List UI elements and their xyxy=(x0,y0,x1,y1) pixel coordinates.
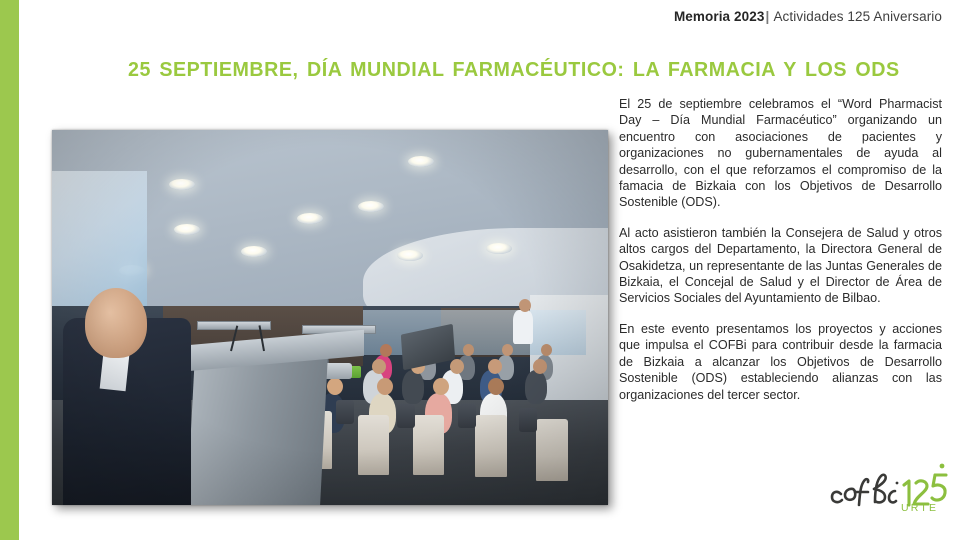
auditorium-seat xyxy=(475,415,507,477)
ceiling-light-icon xyxy=(397,250,423,261)
logo-subtext: URTE xyxy=(901,502,938,514)
ceiling-light-icon xyxy=(169,179,195,190)
audience-head xyxy=(541,344,552,356)
audience-head xyxy=(372,359,386,374)
speaker-head xyxy=(85,288,147,358)
audience-head xyxy=(488,378,504,395)
body-paragraph-1: El 25 de septiembre celebramos el “Word … xyxy=(619,96,942,211)
ceiling-light-icon xyxy=(486,243,512,254)
standing-person-head xyxy=(519,299,531,312)
auditorium-seat xyxy=(536,419,568,481)
photo-scene xyxy=(52,130,608,505)
auditorium-seat xyxy=(358,415,389,475)
page-title: 25 SEPTIEMBRE, DÍA MUNDIAL FARMACÉUTICO:… xyxy=(128,58,896,82)
audience-head xyxy=(433,378,449,395)
standing-person xyxy=(513,310,533,344)
audience-person xyxy=(525,370,547,404)
cofbi-logo: URTE cofbi 125 URTE xyxy=(828,458,948,516)
body-text-column: El 25 de septiembre celebramos el “Word … xyxy=(619,96,942,403)
ceiling-light-icon xyxy=(174,224,200,235)
auditorium-seat-dark xyxy=(519,408,537,432)
window-strip xyxy=(363,310,585,355)
audience-head xyxy=(327,378,343,395)
cofbi-logo-icon: URTE xyxy=(828,458,948,516)
header-title-rest: Actividades 125 Aniversario xyxy=(770,9,942,24)
ceiling-light-icon xyxy=(297,213,323,224)
auditorium-seat xyxy=(413,415,444,475)
audience-person xyxy=(402,370,424,404)
slide-header: Memoria 2023| Actividades 125 Aniversari… xyxy=(674,9,942,24)
auditorium-seat-dark xyxy=(458,404,476,428)
auditorium-seat-dark xyxy=(336,400,354,424)
event-photo xyxy=(52,130,608,505)
audience-head xyxy=(380,344,392,357)
audience-head xyxy=(533,359,547,374)
podium xyxy=(187,355,328,505)
audience-head xyxy=(377,378,393,395)
header-title-strong: Memoria 2023 xyxy=(674,9,765,24)
projection-screen xyxy=(52,171,147,306)
left-accent-bar xyxy=(0,0,19,540)
logo-dot-icon xyxy=(940,464,945,469)
body-paragraph-2: Al acto asistieron también la Consejera … xyxy=(619,225,942,307)
body-paragraph-3: En este evento presentamos los proyectos… xyxy=(619,321,942,403)
auditorium-seat-dark xyxy=(397,404,415,428)
audience-head xyxy=(450,359,464,374)
